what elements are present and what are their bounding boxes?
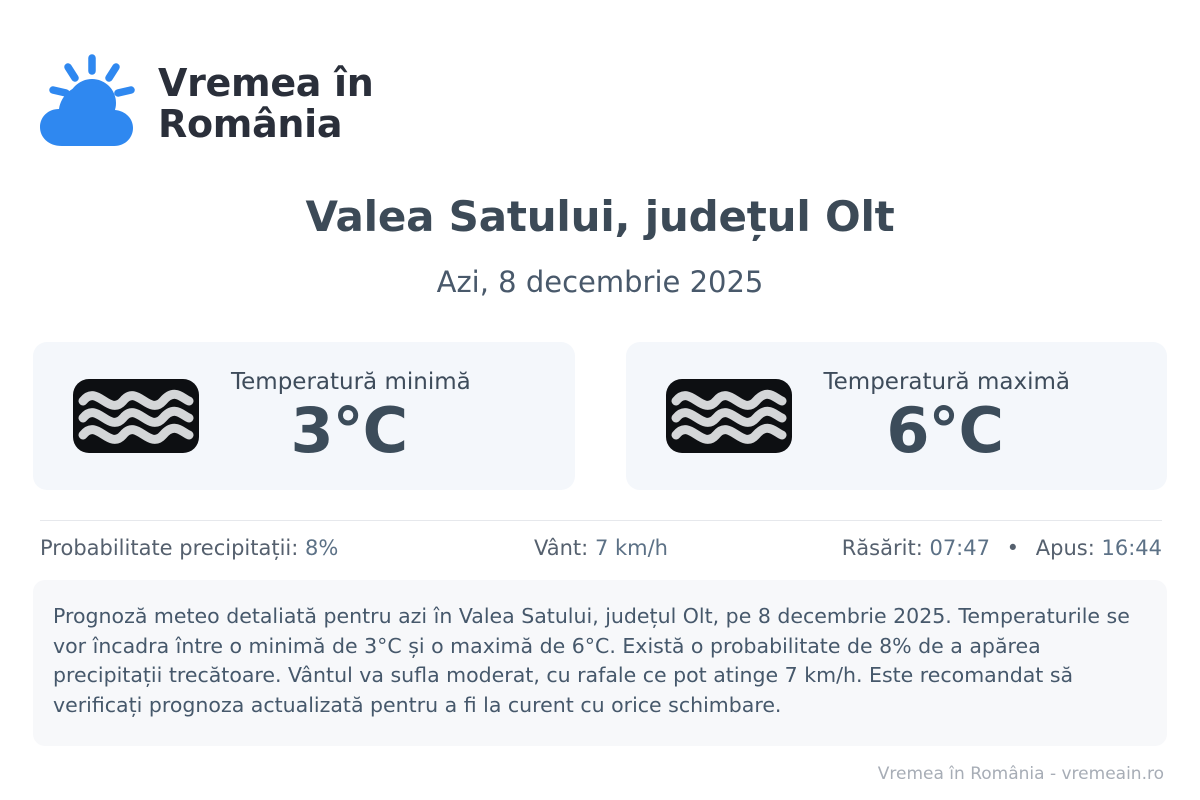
weather-page: Vremea în România Valea Satului, județul… bbox=[0, 0, 1200, 800]
temperature-cards: Temperatură minimă 3°C Temperatură maxim… bbox=[33, 342, 1167, 490]
sunset-value: 16:44 bbox=[1101, 536, 1162, 560]
sun-separator: • bbox=[997, 536, 1029, 560]
waves-icon bbox=[71, 377, 201, 455]
sun-behind-cloud-icon bbox=[36, 52, 140, 156]
page-title: Valea Satului, județul Olt bbox=[0, 192, 1200, 241]
card-min-value: 3°C bbox=[291, 398, 408, 465]
footer-credit: Vremea în România - vremeain.ro bbox=[878, 764, 1164, 784]
card-max-temperature: Temperatură maximă 6°C bbox=[626, 342, 1168, 490]
card-min-temperature: Temperatură minimă 3°C bbox=[33, 342, 575, 490]
divider bbox=[40, 520, 1162, 521]
page-date: Azi, 8 decembrie 2025 bbox=[0, 265, 1200, 299]
precipitation-value: 8% bbox=[305, 536, 338, 560]
stats-row: Probabilitate precipitații: 8% Vânt: 7 k… bbox=[40, 536, 1162, 560]
precipitation-label: Probabilitate precipitații: bbox=[40, 536, 298, 560]
forecast-description-panel: Prognoză meteo detaliată pentru azi în V… bbox=[33, 580, 1167, 746]
card-min-body: Temperatură minimă 3°C bbox=[227, 367, 471, 464]
forecast-description-text: Prognoză meteo detaliată pentru azi în V… bbox=[53, 602, 1143, 720]
sunset-label: Apus: bbox=[1036, 536, 1095, 560]
sunrise-label: Răsărit: bbox=[842, 536, 923, 560]
card-max-value: 6°C bbox=[886, 398, 1003, 465]
wind-label: Vânt: bbox=[534, 536, 588, 560]
wind-value: 7 km/h bbox=[595, 536, 668, 560]
stat-wind: Vânt: 7 km/h bbox=[414, 536, 788, 560]
waves-icon bbox=[664, 377, 794, 455]
card-min-label: Temperatură minimă bbox=[231, 369, 471, 395]
card-max-label: Temperatură maximă bbox=[824, 369, 1070, 395]
sunrise-value: 07:47 bbox=[929, 536, 990, 560]
brand-logo[interactable]: Vremea în România bbox=[36, 52, 374, 156]
stat-sun: Răsărit: 07:47 • Apus: 16:44 bbox=[788, 536, 1162, 560]
stat-precipitation: Probabilitate precipitații: 8% bbox=[40, 536, 414, 560]
card-max-body: Temperatură maximă 6°C bbox=[820, 367, 1070, 464]
brand-name: Vremea în România bbox=[158, 63, 374, 145]
